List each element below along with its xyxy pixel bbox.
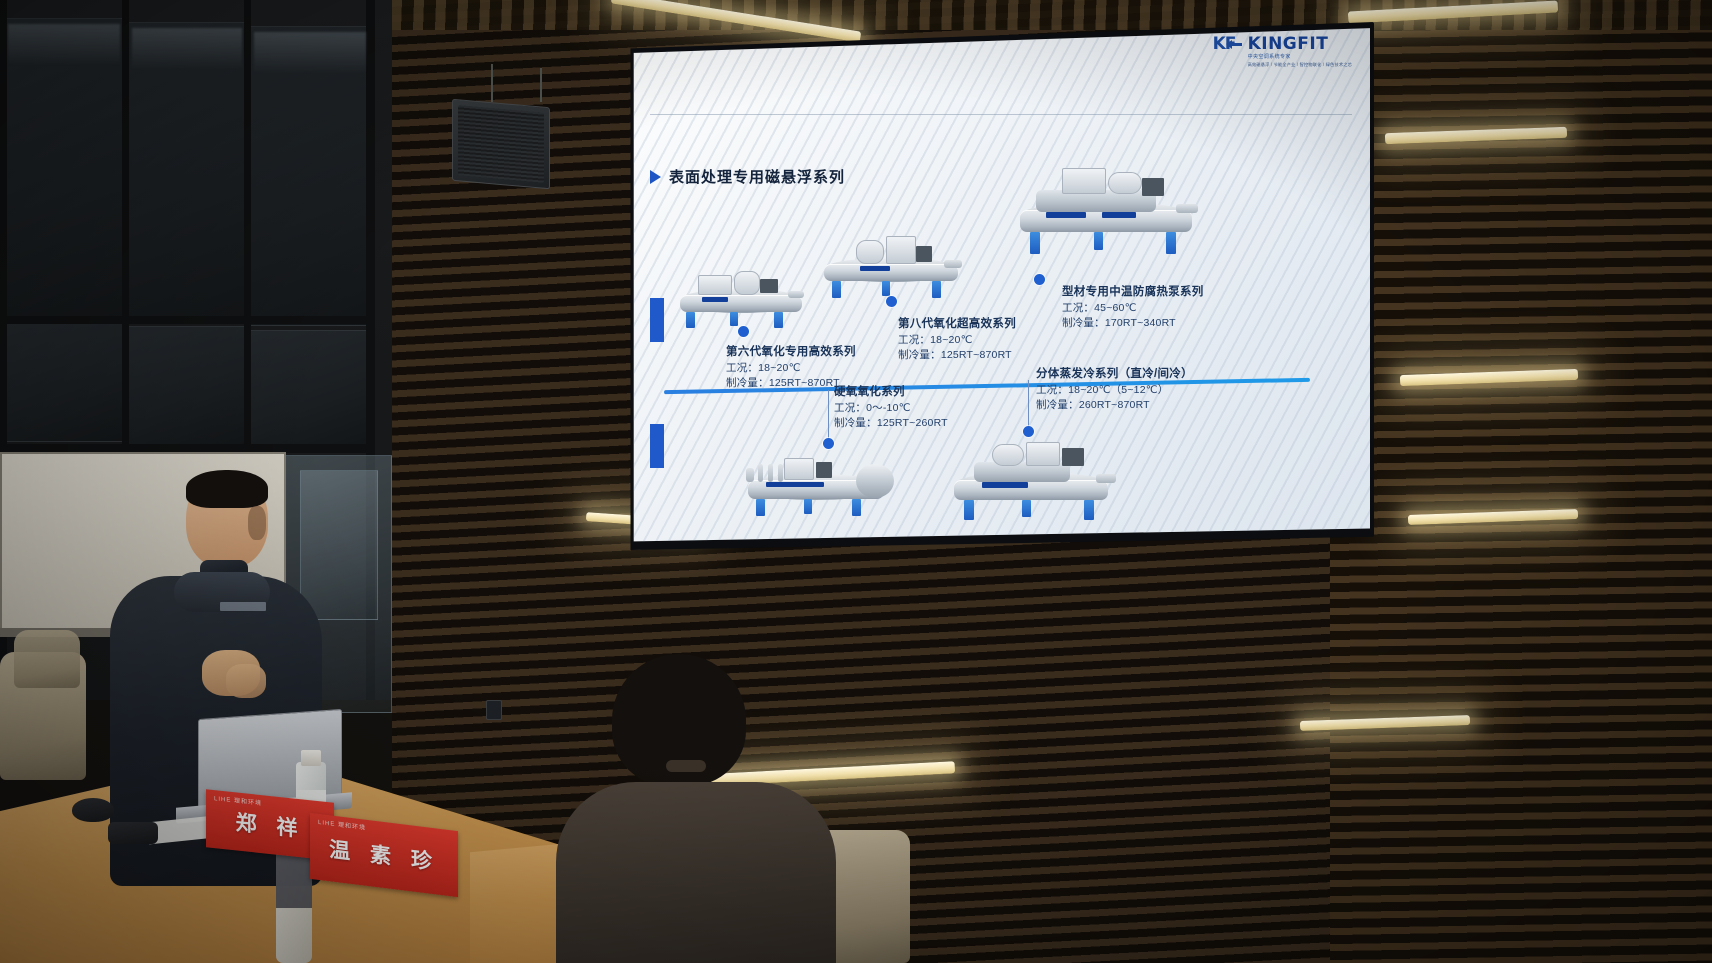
phone[interactable] <box>108 822 158 844</box>
presenter-hair <box>186 470 268 508</box>
logo-arrow-icon <box>1226 40 1242 49</box>
caption-split-evap-name: 分体蒸发冷系列（直冷/间冷） <box>1036 366 1193 383</box>
caption-gen8-condition: 工况：18~20℃ <box>898 333 1016 348</box>
caption-hard-anodize: 硬氧氧化系列 工况：0～-10℃ 制冷量：125RT~260RT <box>834 384 948 431</box>
logo-tagline: 高效磁悬浮 / 节能全产业 / 智控物联化 / 绿色技术之芯 <box>1248 63 1352 67</box>
marker-dot-heatpump <box>1034 274 1045 285</box>
caption-heatpump-name: 型材专用中温防腐热泵系列 <box>1062 284 1204 301</box>
water-bottle-1-cap <box>301 750 321 766</box>
speaker-grille <box>458 105 544 183</box>
caption-hard-anodize-condition: 工况：0～-10℃ <box>834 401 948 416</box>
caption-gen8: 第八代氧化超高效系列 工况：18~20℃ 制冷量：125RT~870RT <box>898 316 1016 363</box>
chiller-illustration-split-evap <box>950 442 1120 522</box>
caption-gen6-condition: 工况：18~20℃ <box>726 361 856 376</box>
chair-left-back <box>14 630 80 688</box>
chiller-illustration-gen8 <box>820 236 968 302</box>
caption-hard-anodize-capacity: 制冷量：125RT~260RT <box>834 416 948 431</box>
kingfit-logo: KF KINGFIT 中央空调系统专家 高效磁悬浮 / 节能全产业 / 智控物联… <box>1213 36 1352 67</box>
wood-slat-wall-right <box>1330 0 1712 963</box>
presentation-display[interactable]: KF KINGFIT 中央空调系统专家 高效磁悬浮 / 节能全产业 / 智控物联… <box>630 26 1370 544</box>
mouse[interactable] <box>72 798 114 822</box>
slide-content: KF KINGFIT 中央空调系统专家 高效磁悬浮 / 节能全产业 / 智控物联… <box>630 26 1370 544</box>
logo-brand-name: KINGFIT <box>1248 36 1352 53</box>
slide-title-row: 表面处理专用磁悬浮系列 <box>650 166 845 187</box>
caption-hard-anodize-name: 硬氧氧化系列 <box>834 384 948 401</box>
placard-2-name: 温 素 珍 <box>329 833 439 876</box>
attendee-hair-tie <box>666 760 706 772</box>
caption-split-evap: 分体蒸发冷系列（直冷/间冷） 工况：18~20℃（5~12℃） 制冷量：260R… <box>1036 366 1193 413</box>
presenter-hand-2 <box>226 664 266 698</box>
chiller-illustration-gen6 <box>676 269 812 333</box>
ceiling-speaker <box>452 99 550 190</box>
marker-dot-split-evap <box>1023 426 1034 437</box>
slide-title: 表面处理专用磁悬浮系列 <box>669 166 845 187</box>
placard-2-sub: LIHE 理和环境 <box>318 817 366 832</box>
speaker-mount-rod <box>491 64 493 102</box>
presenter-chest-logo <box>220 602 266 611</box>
placard-1-name: 郑 祥 <box>236 806 305 843</box>
kf-mark-icon: KF <box>1213 36 1243 55</box>
title-triangle-icon <box>650 170 661 184</box>
presenter-ear-shadow <box>248 506 266 540</box>
header-rule <box>650 114 1352 115</box>
conference-room-scene: KF KINGFIT 中央空调系统专家 高效磁悬浮 / 节能全产业 / 智控物联… <box>0 0 1712 963</box>
logo-brand-chinese: 中央空调系统专家 <box>1248 55 1352 60</box>
caption-gen8-name: 第八代氧化超高效系列 <box>898 316 1016 333</box>
caption-heatpump-capacity: 制冷量：170RT~340RT <box>1062 316 1204 331</box>
caption-gen8-capacity: 制冷量：125RT~870RT <box>898 348 1016 363</box>
speaker-mount-rod-2 <box>540 68 542 102</box>
marker-dot-gen8 <box>886 296 897 307</box>
attendee-seated <box>556 654 846 963</box>
caption-split-evap-capacity: 制冷量：260RT~870RT <box>1036 398 1193 413</box>
attendee-jacket <box>556 782 836 963</box>
chiller-illustration-hard-anodize <box>746 450 896 520</box>
leader-line-split-evap <box>1028 380 1029 430</box>
caption-heatpump-condition: 工况：45~60℃ <box>1062 301 1204 316</box>
wall-outlet <box>486 700 502 720</box>
accent-bar-bottom <box>650 424 664 468</box>
caption-heatpump: 型材专用中温防腐热泵系列 工况：45~60℃ 制冷量：170RT~340RT <box>1062 284 1204 331</box>
accent-bar-top <box>650 298 664 342</box>
chiller-illustration-heatpump <box>1016 166 1202 258</box>
leader-line-hard-anodize <box>828 390 829 442</box>
marker-dot-gen6 <box>738 326 749 337</box>
caption-gen6-name: 第六代氧化专用高效系列 <box>726 344 856 361</box>
caption-split-evap-condition: 工况：18~20℃（5~12℃） <box>1036 383 1193 398</box>
marker-dot-hard-anodize <box>823 438 834 449</box>
placard-1-sub: LIHE 理和环境 <box>214 793 262 807</box>
